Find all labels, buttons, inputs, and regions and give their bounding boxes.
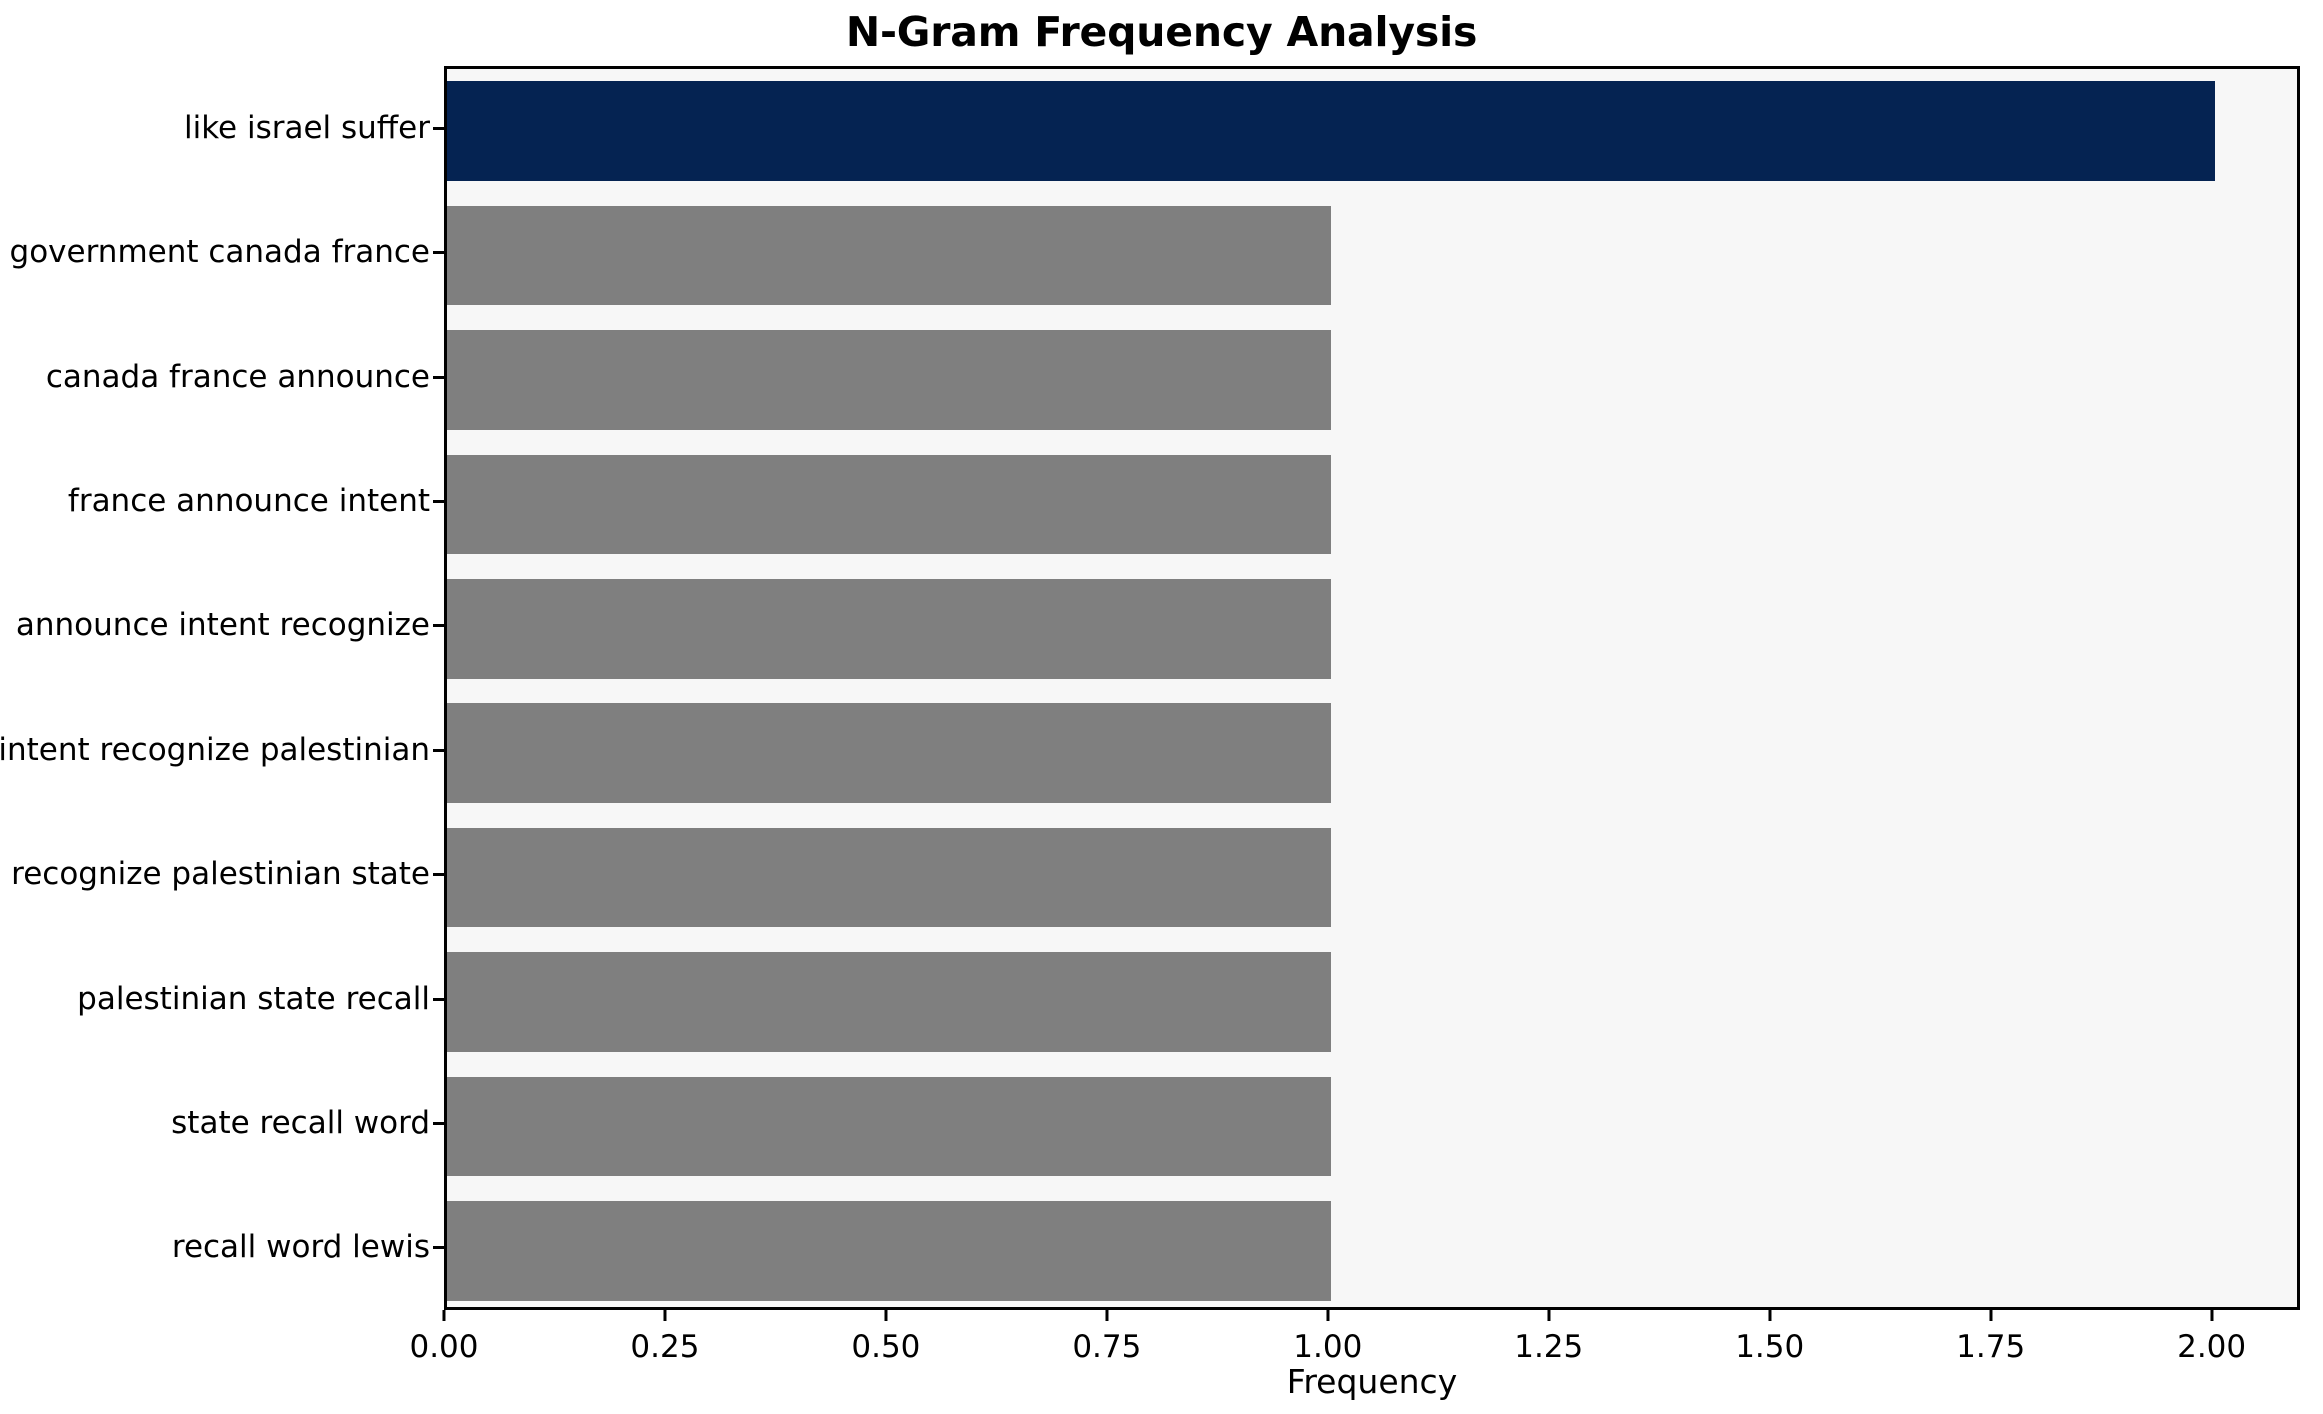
- x-axis-tick-mark: [884, 1310, 887, 1321]
- y-axis-tick: palestinian state recall: [0, 977, 444, 1021]
- x-axis-tick-label: 0.25: [630, 1329, 699, 1365]
- x-axis-tick-mark: [1105, 1310, 1108, 1321]
- x-axis-tick: 2.00: [2177, 1310, 2246, 1365]
- x-axis-tick: 1.25: [1514, 1310, 1583, 1365]
- y-axis: like israel suffergovernment canada fran…: [0, 66, 444, 1310]
- y-axis-tick: state recall word: [0, 1101, 444, 1145]
- y-axis-tick: announce intent recognize: [0, 604, 444, 648]
- y-axis-tick: recognize palestinian state: [0, 853, 444, 897]
- plot-area: [444, 66, 2300, 1310]
- page-title: N-Gram Frequency Analysis: [0, 8, 2323, 56]
- bar: [447, 952, 1331, 1052]
- bar: [447, 703, 1331, 803]
- bar: [447, 828, 1331, 928]
- x-axis-tick-mark: [1989, 1310, 1992, 1321]
- x-axis-tick: 1.50: [1735, 1310, 1804, 1365]
- y-axis-tick-label: recall word lewis: [172, 1232, 444, 1263]
- y-axis-tick: like israel suffer: [0, 106, 444, 150]
- x-axis-tick-mark: [663, 1310, 666, 1321]
- y-axis-tick-label: france announce intent: [68, 486, 444, 517]
- y-axis-tick-mark: [433, 873, 444, 876]
- y-axis-tick-mark: [433, 998, 444, 1001]
- x-axis-tick-mark: [2210, 1310, 2213, 1321]
- x-axis-tick: 0.25: [630, 1310, 699, 1365]
- bar: [447, 579, 1331, 679]
- y-axis-tick-mark: [433, 376, 444, 379]
- x-axis-tick-label: 0.00: [409, 1329, 478, 1365]
- x-axis-label: Frequency: [444, 1362, 2300, 1401]
- x-axis-tick: 0.00: [409, 1310, 478, 1365]
- y-axis-tick: canada france announce: [0, 355, 444, 399]
- y-axis-tick-mark: [433, 749, 444, 752]
- y-axis-tick-label: recognize palestinian state: [11, 859, 444, 890]
- x-axis-tick-label: 1.00: [1293, 1329, 1362, 1365]
- y-axis-tick-label: canada france announce: [46, 362, 444, 393]
- x-axis-tick-mark: [1547, 1310, 1550, 1321]
- x-axis-tick: 0.50: [851, 1310, 920, 1365]
- y-axis-tick-mark: [433, 127, 444, 130]
- y-axis-tick-mark: [433, 1122, 444, 1125]
- x-axis-tick-label: 1.75: [1956, 1329, 2025, 1365]
- y-axis-tick: france announce intent: [0, 479, 444, 523]
- bar: [447, 455, 1331, 555]
- y-axis-tick: intent recognize palestinian: [0, 728, 444, 772]
- bar: [447, 206, 1331, 306]
- bar: [447, 81, 2215, 181]
- x-axis-tick: 1.75: [1956, 1310, 2025, 1365]
- x-axis-tick: 1.00: [1293, 1310, 1362, 1365]
- y-axis-tick-label: palestinian state recall: [77, 984, 444, 1015]
- y-axis-tick-label: announce intent recognize: [16, 610, 444, 641]
- y-axis-tick: government canada france: [0, 231, 444, 275]
- x-axis-tick-mark: [1326, 1310, 1329, 1321]
- bar: [447, 1077, 1331, 1177]
- y-axis-tick-mark: [433, 251, 444, 254]
- y-axis-tick-label: like israel suffer: [184, 113, 444, 144]
- y-axis-tick-label: government canada france: [10, 237, 444, 268]
- bars-layer: [447, 69, 2297, 1307]
- x-axis-tick-label: 0.50: [851, 1329, 920, 1365]
- y-axis-tick-label: intent recognize palestinian: [0, 735, 444, 766]
- x-axis-tick-label: 0.75: [1072, 1329, 1141, 1365]
- y-axis-tick-mark: [433, 500, 444, 503]
- y-axis-tick: recall word lewis: [0, 1226, 444, 1270]
- x-axis-tick-label: 1.25: [1514, 1329, 1583, 1365]
- y-axis-tick-mark: [433, 1246, 444, 1249]
- bar: [447, 330, 1331, 430]
- y-axis-tick-mark: [433, 624, 444, 627]
- x-axis-tick-label: 1.50: [1735, 1329, 1804, 1365]
- x-axis-tick-label: 2.00: [2177, 1329, 2246, 1365]
- figure-canvas: N-Gram Frequency Analysis like israel su…: [0, 0, 2323, 1414]
- x-axis-tick-mark: [1768, 1310, 1771, 1321]
- x-axis-tick: 0.75: [1072, 1310, 1141, 1365]
- y-axis-tick-label: state recall word: [171, 1108, 444, 1139]
- bar: [447, 1201, 1331, 1301]
- x-axis-tick-mark: [443, 1310, 446, 1321]
